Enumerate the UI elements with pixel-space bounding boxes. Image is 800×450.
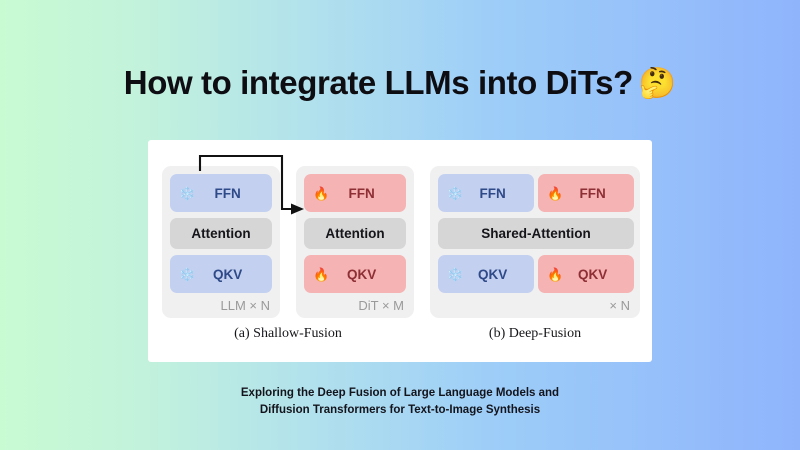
caption-deep-fusion: (b) Deep-Fusion — [430, 326, 640, 342]
panel-a-llm-footer: LLM × N — [221, 298, 271, 313]
block-dit-ffn-deep: 🔥 FFN — [538, 174, 634, 212]
flame-icon: 🔥 — [547, 187, 563, 200]
subtitle-line-2: Diffusion Transformers for Text-to-Image… — [0, 402, 800, 419]
figure-panels: ❄️ FFN Attention ❄️ QKV LLM × N 🔥 FFN At… — [148, 140, 652, 362]
page-title-text: How to integrate LLMs into DiTs? — [124, 64, 633, 101]
block-label: Shared-Attention — [438, 226, 634, 241]
block-shared-attention: Shared-Attention — [438, 218, 634, 249]
thinking-face-icon: 🤔 — [639, 67, 676, 100]
subtitle-line-1: Exploring the Deep Fusion of Large Langu… — [0, 385, 800, 402]
block-dit-qkv-shallow: 🔥 QKV — [304, 255, 406, 293]
caption-shallow-fusion: (a) Shallow-Fusion — [162, 326, 414, 342]
panel-a-dit-group: 🔥 FFN Attention 🔥 QKV DiT × M — [296, 166, 414, 318]
block-label: Attention — [304, 226, 406, 241]
block-dit-ffn-shallow: 🔥 FFN — [304, 174, 406, 212]
block-label: FFN — [331, 186, 406, 201]
block-llm-ffn-deep: ❄️ FFN — [438, 174, 534, 212]
block-llm-qkv-shallow: ❄️ QKV — [170, 255, 272, 293]
block-llm-ffn-shallow: ❄️ FFN — [170, 174, 272, 212]
block-label: QKV — [331, 267, 406, 282]
flame-icon: 🔥 — [547, 268, 563, 281]
block-label: QKV — [565, 267, 634, 282]
flame-icon: 🔥 — [313, 187, 329, 200]
flame-icon: 🔥 — [313, 268, 329, 281]
panel-a-llm-group: ❄️ FFN Attention ❄️ QKV LLM × N — [162, 166, 280, 318]
panel-b-group: ❄️ FFN 🔥 FFN Shared-Attention ❄️ QKV 🔥 Q… — [430, 166, 640, 318]
subtitle: Exploring the Deep Fusion of Large Langu… — [0, 385, 800, 419]
snowflake-icon: ❄️ — [447, 187, 463, 200]
snowflake-icon: ❄️ — [179, 268, 195, 281]
block-llm-qkv-deep: ❄️ QKV — [438, 255, 534, 293]
block-llm-attention-shallow: Attention — [170, 218, 272, 249]
snowflake-icon: ❄️ — [447, 268, 463, 281]
page-title: How to integrate LLMs into DiTs?🤔 — [0, 64, 800, 102]
block-label: FFN — [565, 186, 634, 201]
figure-card: ❄️ FFN Attention ❄️ QKV LLM × N 🔥 FFN At… — [148, 140, 652, 362]
panel-b-footer: × N — [609, 298, 630, 313]
block-label: QKV — [197, 267, 272, 282]
panel-a-dit-footer: DiT × M — [358, 298, 404, 313]
block-dit-qkv-deep: 🔥 QKV — [538, 255, 634, 293]
block-dit-attention-shallow: Attention — [304, 218, 406, 249]
snowflake-icon: ❄️ — [179, 187, 195, 200]
block-label: QKV — [465, 267, 534, 282]
block-label: Attention — [170, 226, 272, 241]
block-label: FFN — [197, 186, 272, 201]
block-label: FFN — [465, 186, 534, 201]
